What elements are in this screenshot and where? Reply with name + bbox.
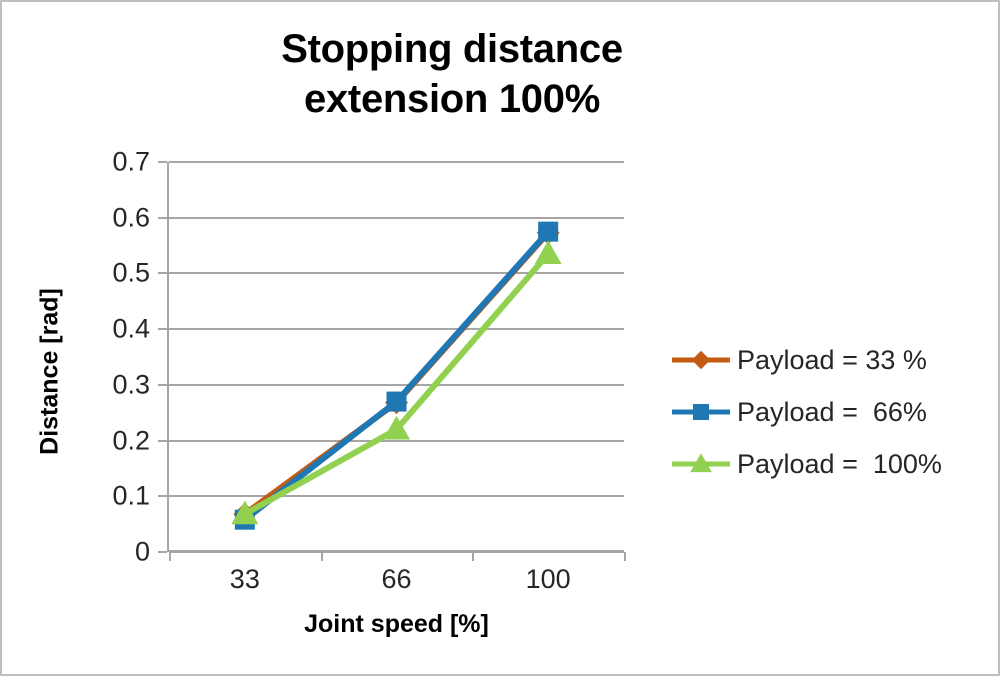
- x-axis-tick-mark: [472, 552, 474, 561]
- y-axis-tick-mark: [158, 495, 167, 497]
- plot-area: [169, 162, 624, 552]
- legend-label: Payload = 33 %: [732, 345, 927, 376]
- y-axis-tick-label: 0.1: [50, 481, 150, 512]
- x-axis-line: [167, 550, 624, 552]
- y-axis-tick-label: 0.5: [50, 258, 150, 289]
- legend-label: Payload = 100%: [732, 449, 942, 480]
- legend-item[interactable]: Payload = 33 %: [670, 334, 990, 386]
- y-axis-tick-mark: [158, 440, 167, 442]
- y-axis-tick-mark: [158, 328, 167, 330]
- gridline: [169, 161, 624, 163]
- legend-item[interactable]: Payload = 100%: [670, 438, 990, 490]
- gridline: [169, 495, 624, 497]
- legend-item[interactable]: Payload = 66%: [670, 386, 990, 438]
- gridline: [169, 440, 624, 442]
- chart-title: Stopping distance extension 100%: [122, 24, 782, 124]
- x-axis-tick-label: 33: [185, 564, 305, 595]
- legend-square-icon: [670, 397, 732, 427]
- y-axis-tick-label: 0.3: [50, 369, 150, 400]
- x-axis-tick-label: 66: [337, 564, 457, 595]
- y-axis-title: Distance [rad]: [36, 272, 65, 472]
- square-data-marker: [693, 404, 709, 420]
- y-axis-tick-mark: [158, 551, 167, 553]
- x-axis-title: Joint speed [%]: [169, 610, 624, 639]
- legend-triangle-icon: [670, 449, 732, 479]
- chart-title-line-2: extension 100%: [122, 74, 782, 124]
- y-axis-tick-mark: [158, 217, 167, 219]
- y-axis-tick-label: 0: [50, 537, 150, 568]
- legend-label: Payload = 66%: [732, 397, 927, 428]
- gridline: [169, 328, 624, 330]
- gridline: [169, 217, 624, 219]
- x-axis-tick-label: 100: [488, 564, 608, 595]
- y-axis-tick-label: 0.7: [50, 147, 150, 178]
- y-axis-tick-label: 0.6: [50, 202, 150, 233]
- y-axis-tick-mark: [158, 161, 167, 163]
- diamond-data-marker: [692, 351, 710, 369]
- x-axis-tick-mark: [169, 552, 171, 561]
- y-axis-tick-mark: [158, 384, 167, 386]
- y-axis-tick-label: 0.4: [50, 314, 150, 345]
- chart-title-line-1: Stopping distance: [122, 24, 782, 74]
- gridline: [169, 384, 624, 386]
- x-axis-tick-mark: [321, 552, 323, 561]
- y-axis-line: [167, 162, 169, 552]
- gridline: [169, 272, 624, 274]
- chart-legend: Payload = 33 %Payload = 66%Payload = 100…: [670, 334, 990, 490]
- legend-diamond-icon: [670, 345, 732, 375]
- chart-container: Stopping distance extension 100% 00.10.2…: [0, 0, 1000, 676]
- y-axis-tick-mark: [158, 272, 167, 274]
- y-axis-tick-label: 0.2: [50, 425, 150, 456]
- x-axis-tick-mark: [624, 552, 626, 561]
